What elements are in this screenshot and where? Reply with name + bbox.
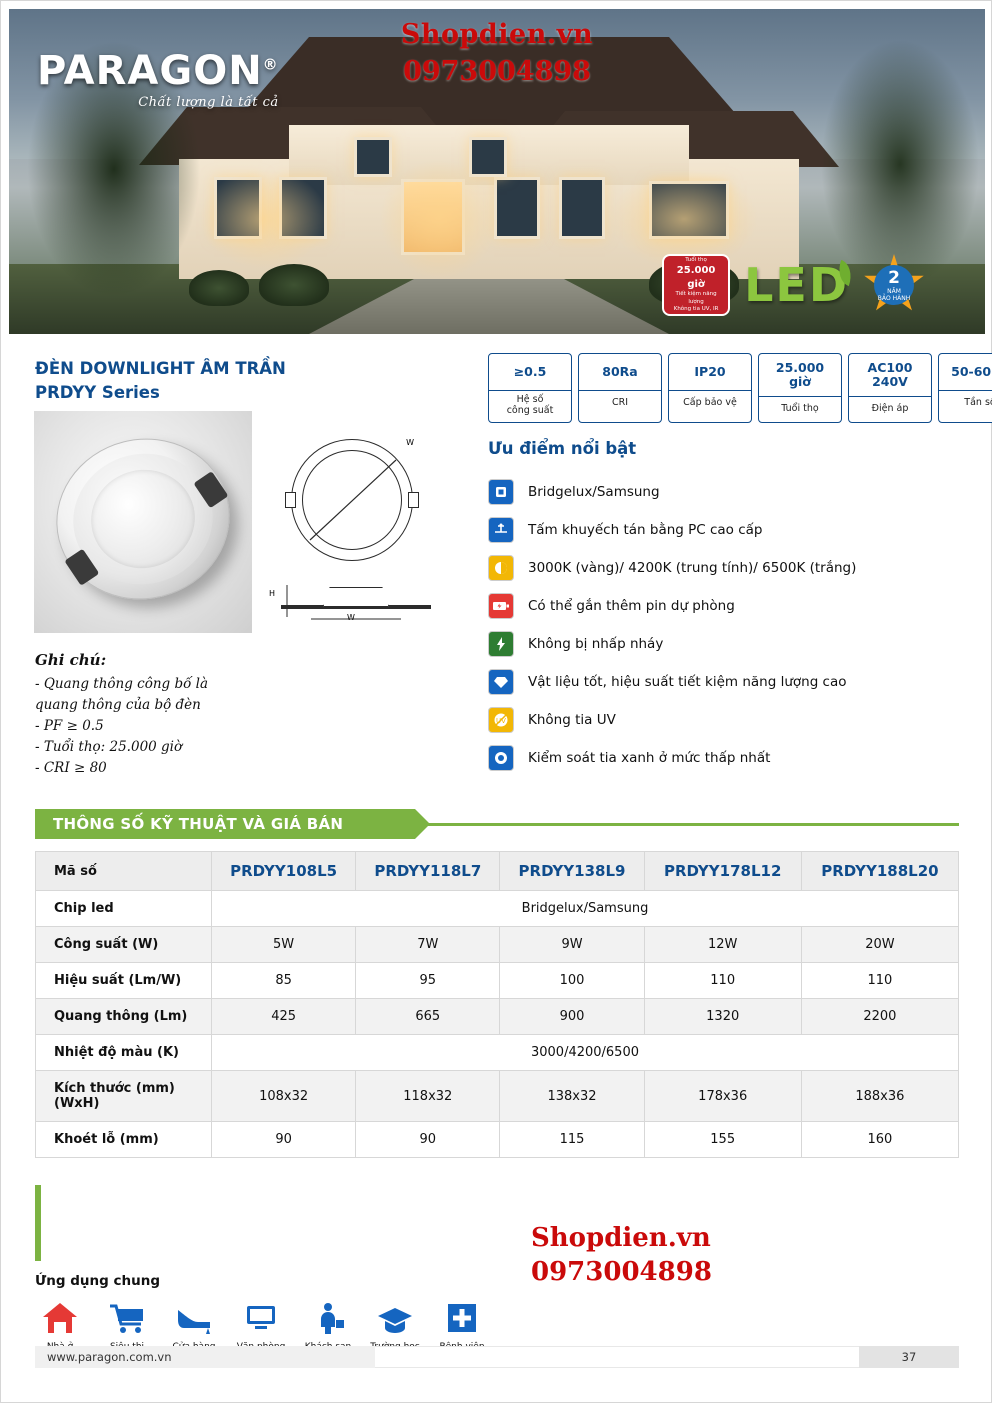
feature-row: Tấm khuyếch tán bằng PC cao cấp <box>488 511 958 549</box>
table-header-code: PRDYY118L7 <box>356 852 500 891</box>
footer-url[interactable]: www.paragon.com.vn <box>35 1346 375 1368</box>
high-heel-shoe-icon <box>172 1297 216 1339</box>
features-list: Bridgelux/Samsung Tấm khuyếch tán bằng P… <box>488 473 958 777</box>
spec-chip-value: 25.000 giờ <box>759 354 841 396</box>
upper-window <box>354 137 392 177</box>
feature-text: Vật liệu tốt, hiệu suất tiết kiệm năng l… <box>528 674 847 690</box>
spec-chip-value: 80Ra <box>579 354 661 390</box>
feature-text: Không tia UV <box>528 712 616 728</box>
row-label: Chip led <box>36 891 212 927</box>
note-item: - Quang thông công bố là <box>35 674 285 695</box>
led-badge-text: LED <box>744 258 849 312</box>
diamond-quality-icon <box>488 669 514 695</box>
no-flicker-icon <box>488 631 514 657</box>
warranty-years-label: NĂM BẢO HÀNH <box>878 288 910 302</box>
emergency-battery-icon <box>488 593 514 619</box>
row-cell: 138x32 <box>500 1071 644 1122</box>
logo-slogan: Chất lượng là tất cả <box>37 95 279 110</box>
row-cell: 110 <box>801 963 958 999</box>
application-item: Siêu thị <box>102 1297 152 1352</box>
blue-light-icon <box>488 745 514 771</box>
notes-heading: Ghi chú: <box>35 649 285 672</box>
applications-block: Ứng dụng chung Nhà ở Siêu thị Cửa hàng <box>35 1273 487 1352</box>
diffuser-icon <box>488 517 514 543</box>
bellhop-icon <box>306 1297 350 1339</box>
row-label-sub: (WxH) <box>54 1096 207 1111</box>
window <box>559 177 605 239</box>
light-glow <box>379 159 499 279</box>
spec-chip-value: 50-60Hz <box>939 354 992 390</box>
row-label: Nhiệt độ màu (K) <box>36 1035 212 1071</box>
spec-chip: ≥0.5 Hệ số công suất <box>488 353 572 423</box>
table-header-code: PRDYY178L12 <box>644 852 801 891</box>
feature-text: 3000K (vàng)/ 4200K (trung tính)/ 6500K … <box>528 560 856 576</box>
spec-chip: 25.000 giờ Tuổi thọ <box>758 353 842 423</box>
row-cell: 20W <box>801 927 958 963</box>
row-cell: 1320 <box>644 999 801 1035</box>
spec-chip: AC100 240V Điện áp <box>848 353 932 423</box>
warranty-years: 2 <box>888 268 900 288</box>
row-cell: 110 <box>644 963 801 999</box>
table-header-row: Mã số PRDYY108L5 PRDYY118L7 PRDYY138L9 P… <box>36 852 959 891</box>
notes-block: Ghi chú: - Quang thông công bố là quang … <box>35 649 285 779</box>
applications-title: Ứng dụng chung <box>35 1273 487 1289</box>
row-cell: 100 <box>500 963 644 999</box>
row-cell: 2200 <box>801 999 958 1035</box>
section-banner: THÔNG SỐ KỸ THUẬT VÀ GIÁ BÁN <box>35 809 415 839</box>
spec-chip-value: IP20 <box>669 354 751 390</box>
no-uv-icon: UV <box>488 707 514 733</box>
lifetime-badge: Tuổi thọ 25.000 giờ Tiết kiệm năng lượng… <box>662 254 730 316</box>
note-item: - Tuổi thọ: 25.000 giờ <box>35 737 285 758</box>
applications-row: Nhà ở Siêu thị Cửa hàng Văn phòng <box>35 1297 487 1352</box>
spring-clip <box>193 471 228 508</box>
spec-chips: ≥0.5 Hệ số công suất 80Ra CRI IP20 Cấp b… <box>488 353 992 423</box>
features-title: Ưu điểm nổi bật <box>488 439 636 458</box>
footer-spacer <box>375 1346 859 1368</box>
spec-chip-label: CRI <box>579 390 661 416</box>
row-label-text: Kích thước (mm) <box>54 1081 175 1096</box>
led-chip-icon <box>488 479 514 505</box>
office-desk-icon <box>239 1297 283 1339</box>
row-merged-value: 3000/4200/6500 <box>212 1035 959 1071</box>
feature-row: Kiểm soát tia xanh ở mức thấp nhất <box>488 739 958 777</box>
row-cell: 12W <box>644 927 801 963</box>
spec-chip: 80Ra CRI <box>578 353 662 423</box>
row-cell: 160 <box>801 1122 958 1158</box>
downlight-lamp <box>39 420 247 617</box>
house-icon <box>38 1297 82 1339</box>
table-header-code: PRDYY108L5 <box>212 852 356 891</box>
row-cell: 95 <box>356 963 500 999</box>
table-row: Hiệu suất (Lm/W) 85 95 100 110 110 <box>36 963 959 999</box>
row-cell: 5W <box>212 927 356 963</box>
row-cell: 665 <box>356 999 500 1035</box>
feature-row: 3000K (vàng)/ 4200K (trung tính)/ 6500K … <box>488 549 958 587</box>
hero-image: PARAGON® Chất lượng là tất cả Shopdien.v… <box>9 9 985 334</box>
color-temperature-icon <box>488 555 514 581</box>
watermark-bottom: Shopdien.vn 0973004898 <box>531 1223 712 1287</box>
row-cell: 188x36 <box>801 1071 958 1122</box>
row-cell: 155 <box>644 1122 801 1158</box>
feature-text: Có thể gắn thêm pin dự phòng <box>528 598 735 614</box>
application-item: Trường học <box>370 1297 420 1352</box>
application-item: Nhà ở <box>35 1297 85 1352</box>
spec-chip-value: ≥0.5 <box>489 354 571 390</box>
table-row: Quang thông (Lm) 425 665 900 1320 2200 <box>36 999 959 1035</box>
watermark-bottom-site: Shopdien.vn <box>531 1223 712 1253</box>
graduation-cap-icon <box>373 1297 417 1339</box>
green-accent-bar <box>35 1185 41 1261</box>
application-item: Bệnh viện <box>437 1297 487 1352</box>
table-header-code: PRDYY138L9 <box>500 852 644 891</box>
height-label: H <box>269 589 275 598</box>
row-label: Quang thông (Lm) <box>36 999 212 1035</box>
table-row: Nhiệt độ màu (K) 3000/4200/6500 <box>36 1035 959 1071</box>
window <box>494 177 540 239</box>
top-view-outline: W <box>291 439 413 561</box>
row-label: Khoét lỗ (mm) <box>36 1122 212 1158</box>
spec-chip-label: Tần số <box>939 390 992 416</box>
spec-chip: 50-60Hz Tần số <box>938 353 992 423</box>
warranty-badge: 2 NĂM BẢO HÀNH <box>863 254 925 316</box>
lifetime-badge-value: 25.000 giờ <box>667 264 725 291</box>
row-cell: 178x36 <box>644 1071 801 1122</box>
diameter-line <box>292 440 414 562</box>
spring-clip <box>64 549 99 586</box>
watermark-top: Shopdien.vn 0973004898 <box>9 19 985 87</box>
row-label: Kích thước (mm) (WxH) <box>36 1071 212 1122</box>
shrub <box>259 264 329 306</box>
spec-chip-value: AC100 240V <box>849 354 931 396</box>
medical-cross-icon <box>440 1297 484 1339</box>
feature-row: UV Không tia UV <box>488 701 958 739</box>
row-label: Công suất (W) <box>36 927 212 963</box>
feature-row: Có thể gắn thêm pin dự phòng <box>488 587 958 625</box>
warranty-badge-inner: 2 NĂM BẢO HÀNH <box>874 265 914 305</box>
application-item: Cửa hàng <box>169 1297 219 1352</box>
catalog-page: PARAGON® Chất lượng là tất cả Shopdien.v… <box>0 0 992 1403</box>
note-item: quang thông của bộ đèn <box>35 695 285 716</box>
feature-text: Kiểm soát tia xanh ở mức thấp nhất <box>528 750 770 766</box>
watermark-bottom-phone: 0973004898 <box>531 1257 712 1287</box>
row-cell: 9W <box>500 927 644 963</box>
table-row: Kích thước (mm) (WxH) 108x32 118x32 138x… <box>36 1071 959 1122</box>
table-row: Khoét lỗ (mm) 90 90 115 155 160 <box>36 1122 959 1158</box>
shopping-cart-icon <box>105 1297 149 1339</box>
section-banner-rule <box>415 823 959 826</box>
lifetime-badge-sub: Tiết kiệm năng lượng Không tia UV, IR <box>667 291 725 313</box>
spec-chip-label: Cấp bảo vệ <box>669 390 751 416</box>
spec-table: Mã số PRDYY108L5 PRDYY118L7 PRDYY138L9 P… <box>35 851 959 1158</box>
watermark-top-site: Shopdien.vn <box>9 19 985 50</box>
row-cell: 90 <box>356 1122 500 1158</box>
row-label: Hiệu suất (Lm/W) <box>36 963 212 999</box>
product-photo <box>34 411 252 633</box>
page-number: 37 <box>859 1346 959 1368</box>
feature-row: Vật liệu tốt, hiệu suất tiết kiệm năng l… <box>488 663 958 701</box>
table-header-code: PRDYY188L20 <box>801 852 958 891</box>
spec-chip-label: Điện áp <box>849 396 931 422</box>
note-item: - PF ≥ 0.5 <box>35 716 285 737</box>
dimension-lines <box>281 583 431 623</box>
product-title-line1: ĐÈN DOWNLIGHT ÂM TRẦN <box>35 357 286 381</box>
spec-chip-label: Tuổi thọ <box>759 396 841 422</box>
page-footer: www.paragon.com.vn 37 <box>35 1346 959 1368</box>
row-cell: 85 <box>212 963 356 999</box>
application-item: Văn phòng <box>236 1297 286 1352</box>
product-title-line2: PRDYY Series <box>35 381 286 405</box>
row-cell: 425 <box>212 999 356 1035</box>
hero-badges: Tuổi thọ 25.000 giờ Tiết kiệm năng lượng… <box>662 254 925 316</box>
section-banner-wrap: THÔNG SỐ KỸ THUẬT VÀ GIÁ BÁN <box>35 809 959 839</box>
watermark-top-phone: 0973004898 <box>9 56 985 87</box>
table-row: Công suất (W) 5W 7W 9W 12W 20W <box>36 927 959 963</box>
technical-drawing: W H W <box>269 433 459 633</box>
note-item: - CRI ≥ 80 <box>35 758 285 779</box>
application-item: Khách san <box>303 1297 353 1352</box>
lifetime-badge-top: Tuổi thọ <box>667 257 725 264</box>
row-cell: 115 <box>500 1122 644 1158</box>
table-header-label: Mã số <box>36 852 212 891</box>
spec-chip: IP20 Cấp bảo vệ <box>668 353 752 423</box>
product-title: ĐÈN DOWNLIGHT ÂM TRẦN PRDYY Series <box>35 357 286 405</box>
table-row: Chip led Bridgelux/Samsung <box>36 891 959 927</box>
row-merged-value: Bridgelux/Samsung <box>212 891 959 927</box>
row-cell: 7W <box>356 927 500 963</box>
side-view: H W <box>281 583 431 623</box>
feature-text: Tấm khuyếch tán bằng PC cao cấp <box>528 522 763 538</box>
led-badge: LED <box>744 258 849 312</box>
feature-text: Bridgelux/Samsung <box>528 484 660 500</box>
row-cell: 900 <box>500 999 644 1035</box>
width-label-top: W <box>406 438 414 447</box>
feature-row: Không bị nhấp nháy <box>488 625 958 663</box>
spec-chip-label: Hệ số công suất <box>489 390 571 421</box>
row-cell: 108x32 <box>212 1071 356 1122</box>
feature-row: Bridgelux/Samsung <box>488 473 958 511</box>
feature-text: Không bị nhấp nháy <box>528 636 663 652</box>
row-cell: 118x32 <box>356 1071 500 1122</box>
row-cell: 90 <box>212 1122 356 1158</box>
